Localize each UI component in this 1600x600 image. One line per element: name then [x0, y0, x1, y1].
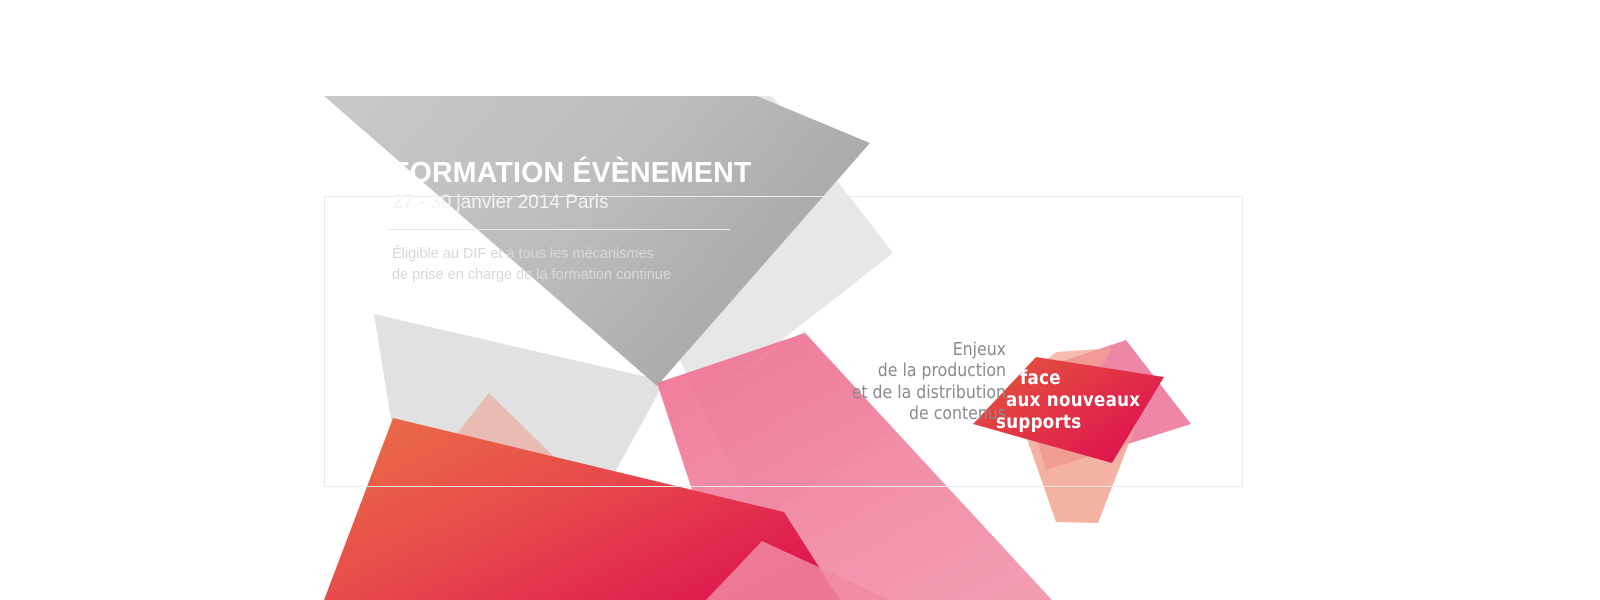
badge-line-1: face [1020, 368, 1216, 390]
enjeux-line-4: de contenus [700, 404, 1006, 425]
header-divider [386, 229, 730, 230]
header-text-block: FORMATION ÉVÈNEMENT 27 - 30 janvier 2014… [392, 158, 812, 286]
badge-line-3: supports [996, 412, 1216, 434]
page-title: FORMATION ÉVÈNEMENT [392, 158, 812, 189]
badge-line-2: aux nouveaux [1006, 390, 1216, 412]
enjeux-line-2: de la production [700, 361, 1006, 382]
enjeux-line-1: Enjeux [700, 340, 1006, 361]
enjeux-line-3: et de la distribution [700, 383, 1006, 404]
enjeux-text-block: Enjeux de la production et de la distrib… [700, 340, 1006, 425]
poster-canvas: FORMATION ÉVÈNEMENT 27 - 30 janvier 2014… [0, 0, 1600, 600]
event-date-location: 27 - 30 janvier 2014 Paris [392, 190, 812, 216]
eligibility-note: Éligible au DIF et à tous les mécanismes… [392, 244, 812, 286]
eligibility-line-2: de prise en charge de la formation conti… [392, 265, 812, 286]
eligibility-line-1: Éligible au DIF et à tous les mécanismes [392, 244, 812, 265]
abstract-polygon-artwork [0, 0, 1600, 600]
badge-text-block: face aux nouveaux supports [996, 368, 1216, 433]
